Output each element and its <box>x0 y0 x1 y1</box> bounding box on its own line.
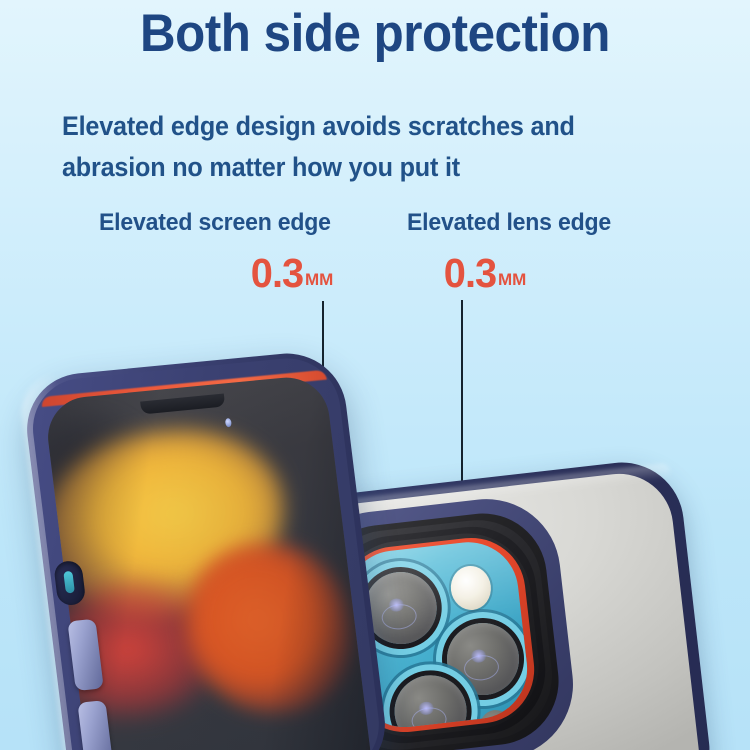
lens-flare-ring <box>380 602 418 631</box>
front-camera-dot <box>224 417 231 427</box>
measure-value-screen-edge: 0.3 <box>251 250 303 297</box>
lens-flare <box>388 598 405 613</box>
measure-value-lens-edge: 0.3 <box>444 250 496 297</box>
callout-measure-screen-edge: 0.3MM <box>250 250 333 297</box>
subtitle-line-1: Elevated edge design avoids scratches an… <box>62 106 670 147</box>
camera-flash <box>449 564 494 612</box>
phone-screen <box>43 374 373 750</box>
callout-label-screen-edge: Elevated screen edge <box>99 209 331 237</box>
subtitle-line-2: abrasion no matter how you put it <box>62 147 670 188</box>
callout-label-lens-edge: Elevated lens edge <box>407 209 611 237</box>
phone-front-with-screen <box>20 348 391 750</box>
callout-measure-lens-edge: 0.3MM <box>443 250 526 297</box>
measure-unit-screen-edge: MM <box>305 270 333 289</box>
measure-unit-lens-edge: MM <box>498 270 526 289</box>
page-title: Both side protection <box>26 6 724 62</box>
subtitle: Elevated edge design avoids scratches an… <box>62 106 670 188</box>
product-marketing-banner: Both side protection Elevated edge desig… <box>0 0 750 750</box>
screen-reflection-overlay <box>43 374 373 750</box>
lens-flare-ring <box>462 653 500 682</box>
